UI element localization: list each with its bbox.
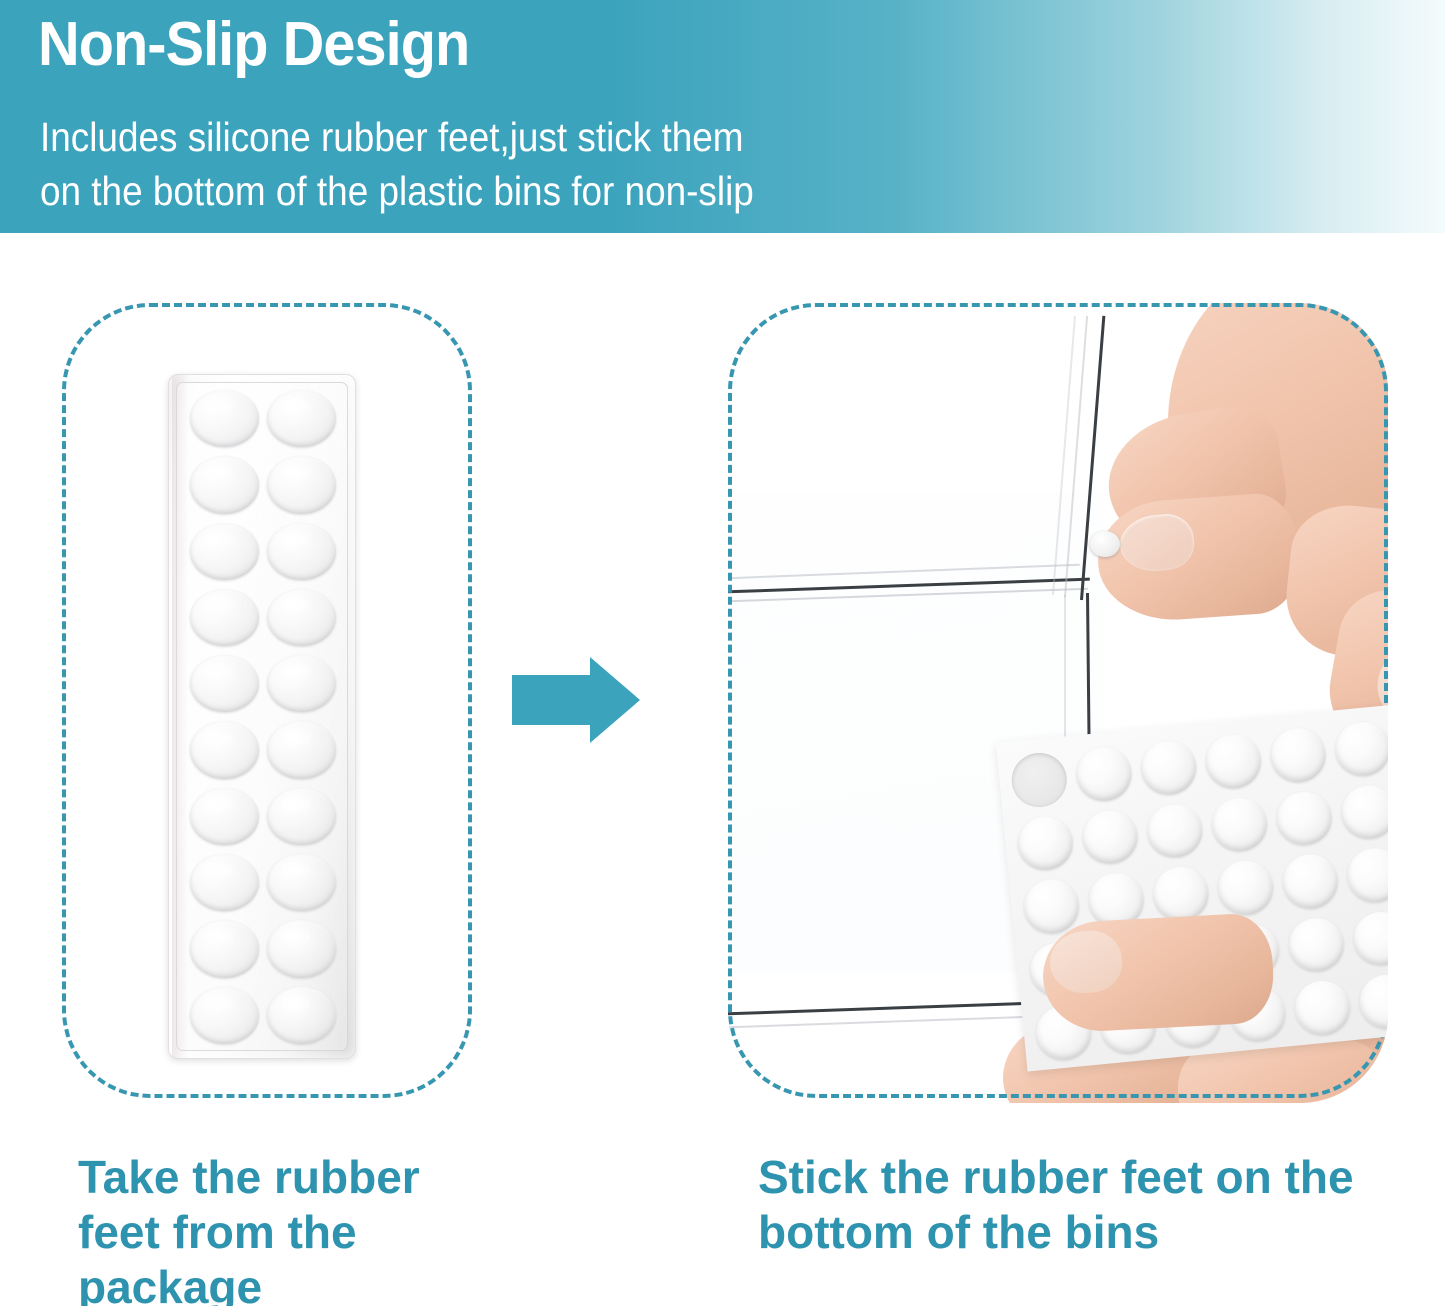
rubber-foot	[190, 456, 259, 513]
step-2-caption: Stick the rubber feet on the bottom of t…	[758, 1150, 1398, 1260]
rubber-foot	[1151, 865, 1211, 924]
rubber-foot	[1216, 858, 1276, 917]
rubber-foot	[1345, 846, 1388, 905]
rubber-foot	[267, 788, 336, 845]
rubber-foot	[190, 920, 259, 977]
rubber-foot-removed	[1009, 751, 1069, 810]
rubber-foot	[190, 721, 259, 778]
rubber-foot	[267, 456, 336, 513]
rubber-foot	[1268, 726, 1328, 785]
rubber-foot	[1080, 808, 1140, 867]
rubber-foot	[1139, 738, 1199, 797]
header-subtitle: Includes silicone rubber feet,just stick…	[40, 110, 754, 218]
rubber-foot	[1074, 744, 1134, 803]
rubber-feet-package-strip	[168, 374, 356, 1059]
rubber-foot	[190, 655, 259, 712]
rubber-foot	[1286, 916, 1346, 975]
rubber-foot	[1339, 783, 1388, 842]
rubber-foot	[1280, 852, 1340, 911]
rubber-foot	[267, 920, 336, 977]
rubber-foot	[1292, 979, 1352, 1038]
rubber-foot	[267, 390, 336, 447]
rubber-foot	[1021, 877, 1081, 936]
infographic-page: Non-Slip Design Includes silicone rubber…	[0, 0, 1445, 1306]
rubber-foot	[267, 721, 336, 778]
rubber-foot	[1351, 909, 1388, 968]
rubber-foot	[267, 655, 336, 712]
rubber-foot	[267, 523, 336, 580]
header-subtitle-line-1: Includes silicone rubber feet,just stick…	[40, 110, 754, 164]
rubber-foot	[267, 854, 336, 911]
page-title: Non-Slip Design	[38, 12, 469, 79]
rubber-foot	[1274, 789, 1334, 848]
rubber-foot	[190, 589, 259, 646]
rubber-foot	[1209, 795, 1269, 854]
rubber-foot	[190, 854, 259, 911]
header-subtitle-line-2: on the bottom of the plastic bins for no…	[40, 164, 754, 218]
step-1-caption: Take the rubber feet from the package	[78, 1150, 508, 1306]
rubber-feet-strip-grid	[187, 387, 339, 1047]
rubber-foot	[267, 987, 336, 1044]
rubber-foot	[190, 523, 259, 580]
rubber-foot	[267, 589, 336, 646]
header-banner: Non-Slip Design Includes silicone rubber…	[0, 0, 1445, 233]
rubber-foot	[1015, 814, 1075, 873]
rubber-foot	[190, 390, 259, 447]
rubber-foot	[1357, 973, 1388, 1032]
rubber-foot	[1333, 719, 1388, 778]
rubber-foot	[1203, 732, 1263, 791]
rubber-foot	[190, 987, 259, 1044]
right-arrow-icon	[512, 655, 640, 745]
rubber-foot	[1145, 801, 1205, 860]
rubber-foot	[190, 788, 259, 845]
